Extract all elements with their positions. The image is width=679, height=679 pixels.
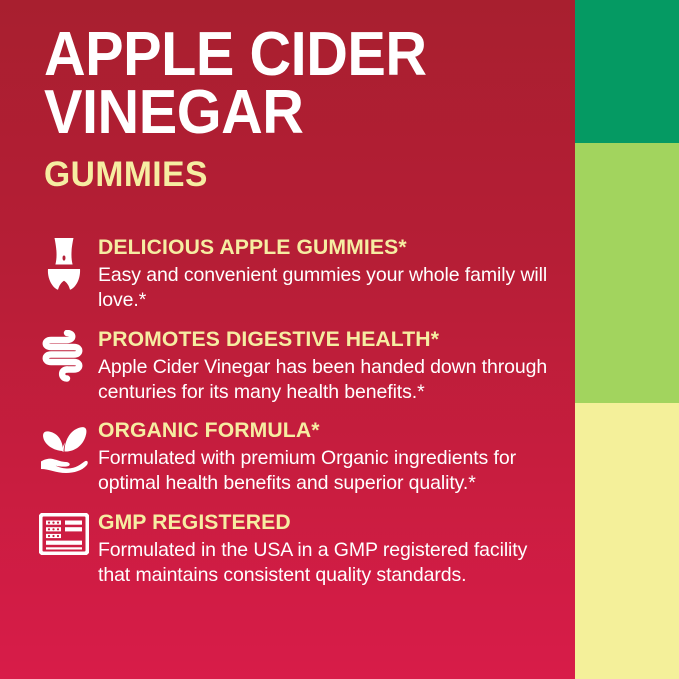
product-title-line-2: VINEGAR xyxy=(44,84,518,142)
product-title-block: APPLE CIDER VINEGAR GUMMIES xyxy=(44,26,554,192)
color-band-yellow xyxy=(575,403,679,679)
feature-description: Formulated with premium Organic ingredie… xyxy=(98,446,564,496)
intestine-digestive-icon xyxy=(36,330,92,386)
usa-flag-icon xyxy=(36,513,92,569)
product-infographic: APPLE CIDER VINEGAR GUMMIES DELICIOUS AP… xyxy=(0,0,679,679)
feature-item: PROMOTES DIGESTIVE HEALTH* Apple Cider V… xyxy=(36,328,564,406)
product-subtitle: GUMMIES xyxy=(44,157,534,192)
feature-title: PROMOTES DIGESTIVE HEALTH* xyxy=(98,328,557,351)
feature-title: DELICIOUS APPLE GUMMIES* xyxy=(98,236,557,259)
feature-text: GMP REGISTERED Formulated in the USA in … xyxy=(92,511,564,589)
feature-text: DELICIOUS APPLE GUMMIES* Easy and conven… xyxy=(92,236,564,314)
feature-item: ORGANIC FORMULA* Formulated with premium… xyxy=(36,419,564,497)
hand-holding-leaves-icon xyxy=(36,421,92,477)
feature-item: GMP REGISTERED Formulated in the USA in … xyxy=(36,511,564,589)
feature-description: Easy and convenient gummies your whole f… xyxy=(98,263,564,313)
color-band-light-green xyxy=(575,143,679,403)
feature-list: DELICIOUS APPLE GUMMIES* Easy and conven… xyxy=(36,236,564,602)
color-band-strip xyxy=(575,0,679,679)
feature-title: GMP REGISTERED xyxy=(98,511,557,534)
feature-description: Formulated in the USA in a GMP registere… xyxy=(98,538,564,588)
slim-waist-torso-icon xyxy=(36,238,92,294)
feature-item: DELICIOUS APPLE GUMMIES* Easy and conven… xyxy=(36,236,564,314)
color-band-green xyxy=(575,0,679,143)
product-title-line-1: APPLE CIDER xyxy=(44,26,518,84)
feature-text: PROMOTES DIGESTIVE HEALTH* Apple Cider V… xyxy=(92,328,564,406)
feature-text: ORGANIC FORMULA* Formulated with premium… xyxy=(92,419,564,497)
feature-title: ORGANIC FORMULA* xyxy=(98,419,557,442)
feature-description: Apple Cider Vinegar has been handed down… xyxy=(98,355,564,405)
